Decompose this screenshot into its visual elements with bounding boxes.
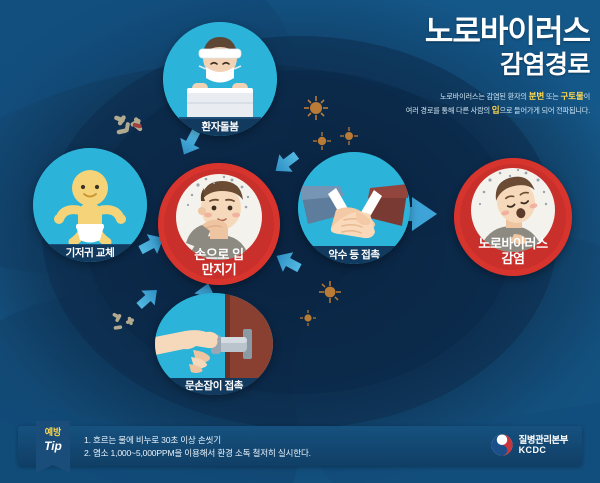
- node-norovirus-infection[interactable]: 노로바이러스 감염: [454, 158, 572, 276]
- node-handshake-contact[interactable]: 악수 등 접촉: [298, 152, 410, 264]
- description-line-1: 노로바이러스는 감염된 환자의 분변 또는 구토물이: [378, 89, 590, 103]
- node-patient-care-label: 환자돌봄: [163, 119, 277, 136]
- highlight-feces: 분변: [529, 91, 544, 101]
- poster-title-line1: 노로바이러스: [378, 16, 590, 49]
- node-diaper-change-label: 기저귀 교체: [33, 245, 147, 262]
- prevention-tip-list: 1. 흐르는 물에 비누로 30초 이상 손씻기 2. 염소 1,000~5,0…: [84, 434, 442, 459]
- node-doorknob-contact[interactable]: 문손잡이 접촉: [155, 293, 273, 395]
- kcdc-name-english: KCDC: [519, 445, 568, 456]
- kcdc-logo: 질병관리본부 KCDC: [491, 434, 568, 456]
- node-hand-to-mouth-label-line1: 손으로 입: [158, 247, 280, 262]
- kcdc-logo-text: 질병관리본부 KCDC: [519, 434, 568, 456]
- node-norovirus-infection-label: 노로바이러스 감염: [454, 236, 572, 266]
- tip-item: 1. 흐르는 물에 비누로 30초 이상 손씻기: [84, 434, 442, 447]
- node-doorknob-contact-label: 문손잡이 접촉: [155, 378, 273, 395]
- node-patient-care[interactable]: 환자돌봄: [163, 22, 277, 136]
- node-hand-to-mouth-label: 손으로 입 만지기: [158, 247, 280, 277]
- node-diaper-change[interactable]: 기저귀 교체: [33, 148, 147, 262]
- kcdc-name-korean: 질병관리본부: [519, 434, 568, 445]
- prevention-tip-bar: 예방 Tip 1. 흐르는 물에 비누로 30초 이상 손씻기 2. 염소 1,…: [18, 426, 582, 466]
- description-line-2: 여러 경로를 통해 다른 사람의 입으로 들어가게 되어 전파됩니다.: [378, 103, 590, 117]
- poster-description: 노로바이러스는 감염된 환자의 분변 또는 구토물이 여러 경로를 통해 다른 …: [378, 89, 590, 117]
- node-handshake-contact-label: 악수 등 접촉: [298, 247, 410, 264]
- taegeuk-icon: [491, 434, 513, 456]
- title-block: 노로바이러스 감염경로 노로바이러스는 감염된 환자의 분변 또는 구토물이 여…: [378, 16, 590, 117]
- node-norovirus-infection-label-line1: 노로바이러스: [454, 236, 572, 251]
- tip-badge-line1: 예방: [36, 421, 70, 439]
- prevention-tip-badge: 예방 Tip: [36, 421, 70, 465]
- infographic-poster: 노로바이러스 감염경로 노로바이러스는 감염된 환자의 분변 또는 구토물이 여…: [0, 0, 600, 483]
- highlight-vomit: 구토물: [560, 91, 583, 101]
- node-norovirus-infection-label-line2: 감염: [454, 251, 572, 266]
- node-hand-to-mouth-label-line2: 만지기: [158, 262, 280, 277]
- poster-title-line2: 감염경로: [378, 51, 590, 80]
- tip-item: 2. 염소 1,000~5,000PPM을 이용해서 환경 소독 철저히 실시한…: [84, 447, 442, 460]
- tip-badge-line2: Tip: [36, 439, 70, 453]
- node-hand-to-mouth[interactable]: 손으로 입 만지기: [158, 163, 280, 285]
